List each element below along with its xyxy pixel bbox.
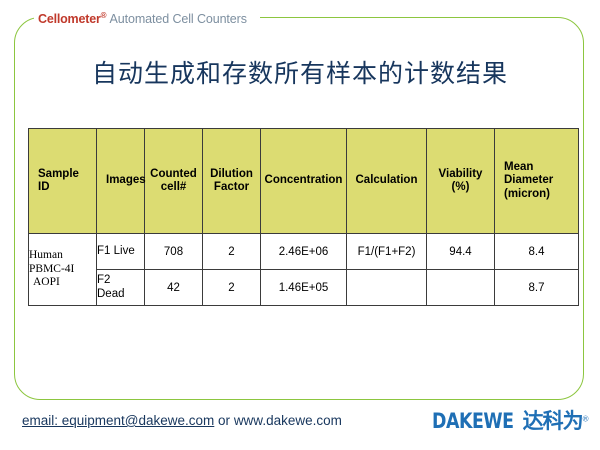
cell-sample-id: Human PBMC-4I AOPI [29, 234, 97, 306]
registered-trademark-icon: ® [583, 415, 589, 424]
sample-id-line2: PBMC-4I [29, 263, 96, 277]
table-row: Human PBMC-4I AOPI F1 Live 708 2 2.46E+0… [29, 234, 579, 270]
cell-calculation-row1: F1/(F1+F2) [347, 234, 427, 270]
cell-counted-cell-row2: 42 [145, 270, 203, 306]
sample-id-line3: AOPI [29, 276, 96, 290]
column-header-dilution-line1: Dilution [206, 168, 257, 181]
column-header-calculation: Calculation [347, 129, 427, 234]
cell-concentration-row1: 2.46E+06 [261, 234, 347, 270]
column-header-viability: Viability (%) [427, 129, 495, 234]
results-table-container: Sample ID Images Counted cell# Dilution … [28, 128, 578, 306]
website-link[interactable]: www.dakewe.com [234, 413, 342, 428]
cell-images-row2: F2 Dead [97, 270, 145, 306]
column-header-concentration: Concentration [261, 129, 347, 234]
table-row: F2 Dead 42 2 1.46E+05 8.7 [29, 270, 579, 306]
cell-mean-diameter-row2: 8.7 [495, 270, 579, 306]
footer-separator: or [214, 413, 234, 428]
dakewe-logo-chinese: 达科为 [523, 410, 583, 433]
cell-images-row2-line1: F2 [97, 274, 144, 287]
column-header-images: Images [97, 129, 145, 234]
column-header-dilution-line2: Factor [206, 181, 257, 194]
cell-images-row1: F1 Live [97, 234, 145, 270]
cell-concentration-row2: 1.46E+05 [261, 270, 347, 306]
brand-header: Cellometer®Automated Cell Counters [38, 7, 247, 25]
table-header-row: Sample ID Images Counted cell# Dilution … [29, 129, 579, 234]
dakewe-logo: DAKEWE达科为® [432, 405, 589, 433]
results-table: Sample ID Images Counted cell# Dilution … [28, 128, 579, 306]
brand-name: Cellometer [38, 12, 101, 26]
column-header-sample-id: Sample ID [29, 129, 97, 234]
column-header-counted-cell-line1: Counted [148, 168, 199, 181]
column-header-counted-cell: Counted cell# [145, 129, 203, 234]
cell-calculation-row2 [347, 270, 427, 306]
brand-subtitle: Automated Cell Counters [110, 12, 247, 26]
column-header-mean-diameter-line2: (micron) [504, 188, 575, 201]
cell-viability-row2 [427, 270, 495, 306]
cell-viability-row1: 94.4 [427, 234, 495, 270]
cell-dilution-factor-row1: 2 [203, 234, 261, 270]
column-header-counted-cell-line2: cell# [148, 181, 199, 194]
column-header-mean-diameter-line1: Mean Diameter [504, 161, 575, 187]
cell-images-row2-line2: Dead [97, 288, 144, 301]
cell-counted-cell-row1: 708 [145, 234, 203, 270]
registered-trademark-icon: ® [101, 11, 107, 20]
cell-dilution-factor-row2: 2 [203, 270, 261, 306]
dakewe-logo-latin: DAKEWE [432, 409, 514, 433]
footer-contact: email: equipment@dakewe.com or www.dakew… [22, 413, 342, 428]
cell-mean-diameter-row1: 8.4 [495, 234, 579, 270]
sample-id-line1: Human [29, 249, 96, 263]
email-link[interactable]: email: equipment@dakewe.com [22, 413, 214, 428]
page-title: 自动生成和存数所有样本的计数结果 [0, 54, 600, 90]
column-header-mean-diameter: Mean Diameter (micron) [495, 129, 579, 234]
column-header-dilution-factor: Dilution Factor [203, 129, 261, 234]
